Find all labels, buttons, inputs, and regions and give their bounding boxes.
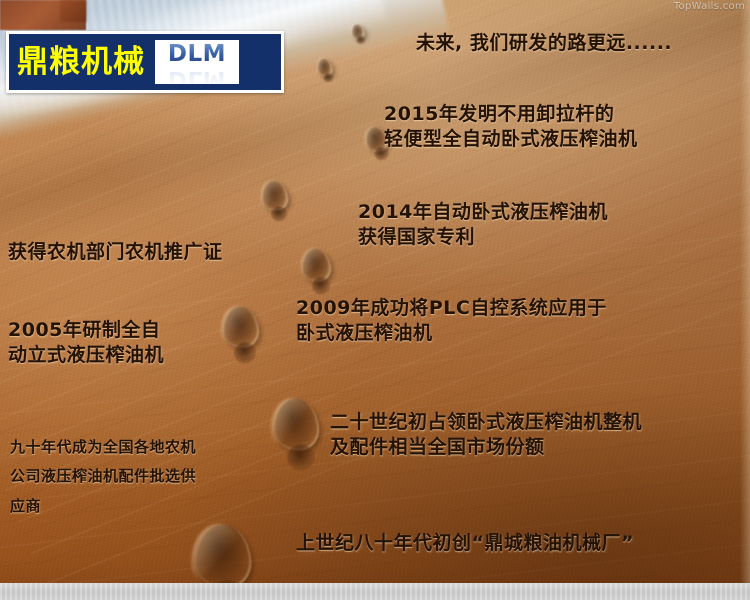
timeline-entry-certificate: 获得农机部门农机推广证	[8, 240, 223, 265]
rock-patch-secondary	[60, 0, 86, 22]
timeline-entry-early-20c: 二十世纪初占领卧式液压榨油机整机 及配件相当全国市场份额	[330, 410, 642, 459]
company-logo[interactable]: 鼎粮机械 DLM DLM	[6, 31, 284, 93]
timeline-entry-2005: 2005年研制全自 动立式液压榨油机	[8, 318, 164, 367]
right-edge-light	[740, 0, 750, 583]
timeline-entry-2014: 2014年自动卧式液压榨油机 获得国家专利	[358, 200, 608, 249]
footprint-icon	[218, 303, 276, 373]
logo-company-name: 鼎粮机械	[17, 47, 145, 78]
poster-canvas: TopWalls.com 鼎粮机械 DLM DLM 未来, 我们研发的路更远..…	[0, 0, 750, 600]
logo-brand-abbr-reflection: DLM	[168, 67, 226, 84]
timeline-entry-1980s: 上世纪八十年代初创“鼎城粮油机械厂”	[296, 531, 634, 556]
timeline-headline: 未来, 我们研发的路更远......	[416, 31, 672, 56]
logo-brand-abbr: DLM	[168, 43, 226, 66]
footprint-icon	[268, 395, 338, 483]
logo-panel: 鼎粮机械 DLM DLM	[9, 34, 281, 90]
logo-brand-mark: DLM DLM	[155, 40, 239, 84]
timeline-entry-2009: 2009年成功将PLC自控系统应用于 卧式液压榨油机	[296, 296, 607, 345]
bottom-strip	[0, 583, 750, 600]
site-watermark: TopWalls.com	[674, 1, 745, 12]
timeline-entry-1990s: 九十年代成为全国各地农机 公司液压榨油机配件批选供 应商	[10, 433, 196, 521]
timeline-entry-2015: 2015年发明不用卸拉杆的 轻便型全自动卧式液压榨油机	[384, 102, 638, 151]
